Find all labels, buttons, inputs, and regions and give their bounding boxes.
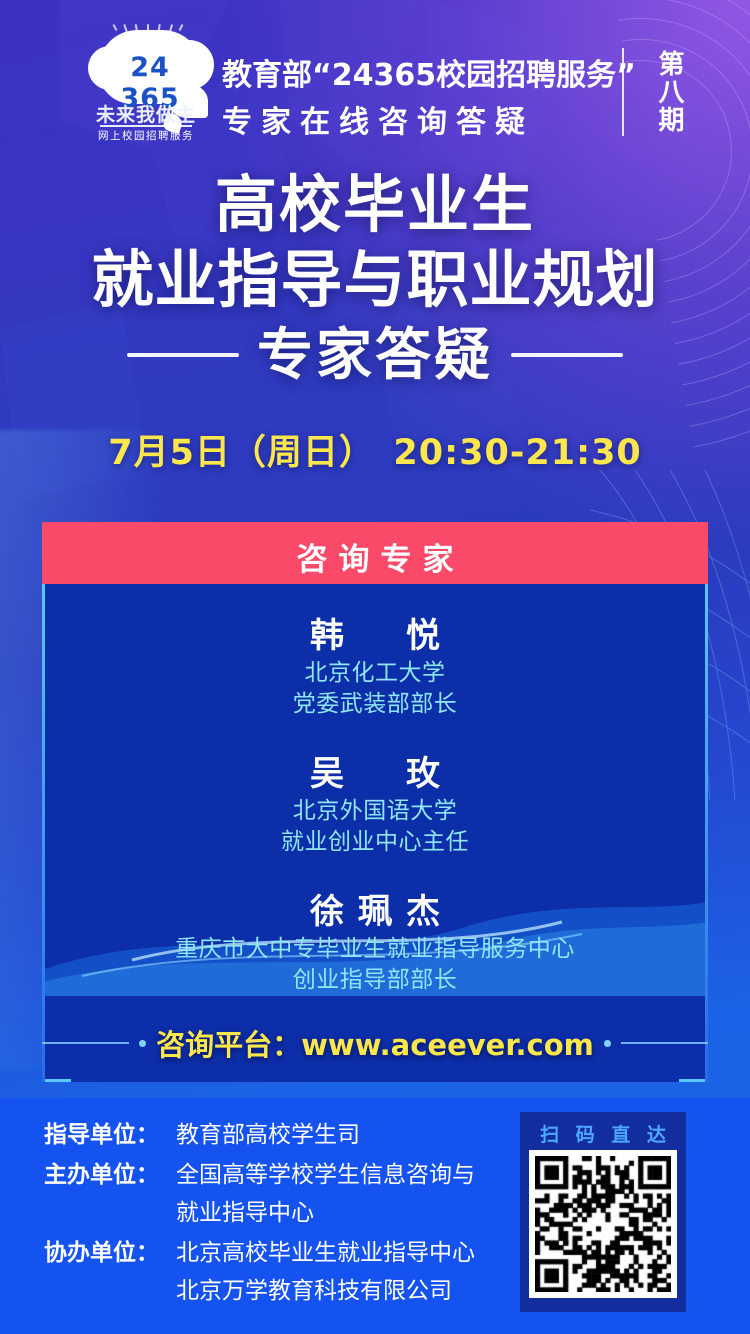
title-rule-right: [511, 353, 623, 357]
expert-card-body: 韩 悦 北京化工大学 党委武装部部长 吴 玫 北京外国语大学 就业创业中心主任 …: [42, 584, 708, 1082]
organizer-label: 指导单位：: [44, 1116, 176, 1154]
expert-org-line1: 北京化工大学: [42, 658, 708, 689]
platform-dot-left: [139, 1040, 146, 1047]
organizer-row: 主办单位： 全国高等学校学生信息咨询与 就业指导中心: [44, 1156, 514, 1232]
header-divider: [622, 48, 624, 136]
organizer-label: 协办单位：: [44, 1234, 176, 1310]
organizer-list: 指导单位： 教育部高校学生司 主办单位： 全国高等学校学生信息咨询与 就业指导中…: [44, 1116, 514, 1312]
title-line-2: 就业指导与职业规划: [0, 242, 750, 318]
organizer-label: 主办单位：: [44, 1156, 176, 1232]
poster-header: 24 365 未来我做主 网上校园招聘服务 教育部“24365校园招聘服务” 专…: [0, 0, 750, 160]
logo-24365: 24 365 未来我做主 网上校园招聘服务: [84, 26, 212, 144]
platform-row: 咨询平台：www.aceever.com: [42, 1022, 708, 1064]
qr-panel[interactable]: 扫 码 直 达: [520, 1112, 686, 1312]
organizer-value: 全国高等学校学生信息咨询与 就业指导中心: [176, 1156, 475, 1232]
expert-name: 吴 玫: [42, 752, 708, 796]
expert-org-line1: 北京外国语大学: [42, 796, 708, 827]
expert-org-line2: 党委武装部部长: [42, 689, 708, 720]
expert-entry: 吴 玫 北京外国语大学 就业创业中心主任: [42, 752, 708, 858]
organizer-row: 指导单位： 教育部高校学生司: [44, 1116, 514, 1154]
header-issue-number: 第八期: [638, 46, 684, 138]
organizer-value-line: 就业指导中心: [176, 1194, 475, 1232]
organizer-value-line: 全国高等学校学生信息咨询与: [176, 1156, 475, 1194]
platform-rule-right: [621, 1042, 708, 1044]
event-datetime: 7月5日（周日） 20:30-21:30: [0, 424, 750, 475]
expert-entry: 徐珮杰 重庆市大中专毕业生就业指导服务中心 创业指导部部长: [42, 890, 708, 996]
title-rule-left: [127, 353, 239, 357]
header-title-line1: 教育部“24365校园招聘服务”: [222, 50, 636, 94]
expert-name: 韩 悦: [42, 614, 708, 658]
expert-org-line2: 就业创业中心主任: [42, 827, 708, 858]
organizer-value-line: 北京万学教育科技有限公司: [176, 1272, 475, 1310]
poster-footer: 指导单位： 教育部高校学生司 主办单位： 全国高等学校学生信息咨询与 就业指导中…: [0, 1098, 750, 1334]
organizer-value: 教育部高校学生司: [176, 1116, 360, 1154]
organizer-row: 协办单位： 北京高校毕业生就业指导中心 北京万学教育科技有限公司: [44, 1234, 514, 1310]
logo-subtitle: 网上校园招聘服务: [86, 128, 206, 143]
title-line-1: 高校毕业生: [0, 168, 750, 242]
header-title-line2: 专家在线咨询答疑: [222, 97, 534, 141]
organizer-value-line: 教育部高校学生司: [176, 1116, 360, 1154]
qr-code-image: [535, 1156, 671, 1292]
expert-card-heading: 咨询专家: [42, 534, 708, 579]
expert-org-line2: 创业指导部部长: [42, 965, 708, 996]
expert-card: 咨询专家 韩 悦 北京化工大学 党委武装部部长 吴 玫 北京外国语大学 就业创业…: [42, 522, 708, 1082]
logo-slogan: 未来我做主: [86, 100, 206, 127]
platform-url[interactable]: 咨询平台：www.aceever.com: [156, 1022, 594, 1064]
expert-name: 徐珮杰: [42, 890, 708, 934]
main-title: 高校毕业生 就业指导与职业规划 专家答疑: [0, 168, 750, 388]
qr-label: 扫 码 直 达: [520, 1120, 686, 1147]
expert-entry: 韩 悦 北京化工大学 党委武装部部长: [42, 614, 708, 720]
organizer-value: 北京高校毕业生就业指导中心 北京万学教育科技有限公司: [176, 1234, 475, 1310]
title-line-3: 专家答疑: [257, 322, 493, 388]
expert-org-line1: 重庆市大中专毕业生就业指导服务中心: [42, 934, 708, 965]
platform-dot-right: [604, 1040, 611, 1047]
title-line-3-row: 专家答疑: [0, 322, 750, 388]
card-edge-left: [42, 584, 45, 1082]
qr-code[interactable]: [529, 1150, 677, 1298]
organizer-value-line: 北京高校毕业生就业指导中心: [176, 1234, 475, 1272]
platform-rule-left: [42, 1042, 129, 1044]
card-edge-right: [705, 584, 708, 1082]
poster-root: 24 365 未来我做主 网上校园招聘服务 教育部“24365校园招聘服务” 专…: [0, 0, 750, 1334]
